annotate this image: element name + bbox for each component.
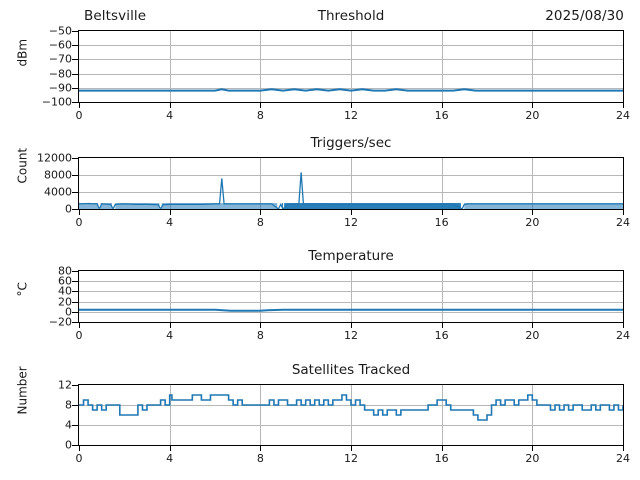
x-axis-tick-label: 20 bbox=[525, 329, 539, 342]
x-axis-tick-mark bbox=[79, 103, 80, 108]
plot-area-satellites bbox=[78, 384, 624, 446]
y-axis-tick-mark bbox=[72, 385, 78, 386]
y-axis-tick-label: 0 bbox=[0, 439, 76, 452]
plot-area-temperature bbox=[78, 270, 624, 323]
y-axis-label: Number bbox=[16, 414, 30, 415]
x-axis-tick-label: 4 bbox=[166, 216, 173, 229]
y-axis-tick-label: 4000 bbox=[0, 186, 76, 199]
y-axis-tick-mark bbox=[72, 271, 78, 272]
x-axis-tick-label: 12 bbox=[344, 109, 358, 122]
y-axis-tick-label: 12000 bbox=[0, 152, 76, 165]
y-axis-tick-label: −100 bbox=[0, 96, 76, 109]
x-axis-tick-label: 0 bbox=[76, 452, 83, 465]
y-axis-tick-label: 12 bbox=[0, 379, 76, 392]
y-axis-tick-mark bbox=[72, 59, 78, 60]
x-axis-tick-mark bbox=[532, 323, 533, 328]
data-trace bbox=[79, 271, 623, 322]
y-axis-tick-label: −80 bbox=[0, 67, 76, 80]
x-axis-tick-mark bbox=[623, 210, 624, 215]
panel-title-satellites: Satellites Tracked bbox=[78, 362, 624, 378]
x-axis-tick-label: 12 bbox=[344, 216, 358, 229]
x-axis-tick-label: 0 bbox=[76, 329, 83, 342]
y-axis-tick-mark bbox=[72, 291, 78, 292]
y-axis-tick-label: 4 bbox=[0, 419, 76, 432]
y-axis-tick-mark bbox=[72, 312, 78, 313]
x-axis-tick-mark bbox=[351, 210, 352, 215]
x-axis-tick-label: 12 bbox=[344, 329, 358, 342]
y-axis-tick-mark bbox=[72, 31, 78, 32]
plot-area-threshold bbox=[78, 30, 624, 103]
y-axis-tick-mark bbox=[72, 45, 78, 46]
x-axis-tick-label: 12 bbox=[344, 452, 358, 465]
y-axis-label: °C bbox=[16, 295, 30, 296]
x-axis-tick-mark bbox=[532, 103, 533, 108]
x-axis-tick-label: 0 bbox=[76, 216, 83, 229]
x-axis-tick-mark bbox=[260, 323, 261, 328]
x-axis-tick-mark bbox=[623, 446, 624, 451]
y-axis-tick-mark bbox=[72, 158, 78, 159]
x-axis-tick-label: 8 bbox=[257, 329, 264, 342]
data-trace bbox=[79, 385, 623, 445]
x-axis-tick-label: 16 bbox=[435, 452, 449, 465]
x-axis-tick-mark bbox=[442, 446, 443, 451]
x-axis-tick-mark bbox=[260, 446, 261, 451]
x-axis-tick-mark bbox=[170, 210, 171, 215]
y-axis-tick-label: −70 bbox=[0, 53, 76, 66]
x-axis-tick-label: 16 bbox=[435, 109, 449, 122]
x-axis-tick-label: 8 bbox=[257, 109, 264, 122]
x-axis-tick-label: 16 bbox=[435, 329, 449, 342]
x-axis-tick-label: 4 bbox=[166, 329, 173, 342]
x-axis-tick-mark bbox=[442, 323, 443, 328]
y-axis-tick-mark bbox=[72, 88, 78, 89]
x-axis-tick-mark bbox=[170, 103, 171, 108]
plot-area-triggers bbox=[78, 157, 624, 210]
x-axis-tick-mark bbox=[170, 446, 171, 451]
x-axis-tick-label: 8 bbox=[257, 452, 264, 465]
panel-title-triggers: Triggers/sec bbox=[78, 135, 624, 151]
y-axis-tick-mark bbox=[72, 445, 78, 446]
y-axis-tick-label: −90 bbox=[0, 81, 76, 94]
x-axis-tick-label: 24 bbox=[616, 329, 630, 342]
y-axis-tick-label: −50 bbox=[0, 25, 76, 38]
x-axis-tick-mark bbox=[623, 323, 624, 328]
y-axis-tick-label: −60 bbox=[0, 39, 76, 52]
y-axis-tick-mark bbox=[72, 281, 78, 282]
x-axis-tick-mark bbox=[442, 210, 443, 215]
x-axis-tick-mark bbox=[532, 446, 533, 451]
x-axis-tick-label: 20 bbox=[525, 109, 539, 122]
y-axis-label: dBm bbox=[16, 65, 30, 66]
y-axis-tick-mark bbox=[72, 175, 78, 176]
x-axis-tick-label: 16 bbox=[435, 216, 449, 229]
y-axis-label: Count bbox=[16, 182, 30, 183]
x-axis-tick-label: 8 bbox=[257, 216, 264, 229]
x-axis-tick-label: 4 bbox=[166, 109, 173, 122]
panel-title-temperature: Temperature bbox=[78, 248, 624, 264]
radio-monitoring-figure: Beltsville 2025/08/30 Threshold −100−90−… bbox=[0, 0, 640, 480]
x-axis-tick-label: 0 bbox=[76, 109, 83, 122]
y-axis-tick-mark bbox=[72, 192, 78, 193]
x-axis-tick-mark bbox=[260, 210, 261, 215]
y-axis-tick-mark bbox=[72, 425, 78, 426]
x-axis-tick-label: 4 bbox=[166, 452, 173, 465]
y-axis-tick-mark bbox=[72, 322, 78, 323]
y-axis-tick-label: 80 bbox=[0, 265, 76, 278]
y-axis-tick-label: 8000 bbox=[0, 169, 76, 182]
x-axis-tick-mark bbox=[260, 103, 261, 108]
x-axis-tick-mark bbox=[170, 323, 171, 328]
x-axis-tick-mark bbox=[442, 103, 443, 108]
panel-title-threshold: Threshold bbox=[78, 8, 624, 24]
y-axis-tick-mark bbox=[72, 405, 78, 406]
x-axis-tick-label: 24 bbox=[616, 452, 630, 465]
data-trace bbox=[79, 31, 623, 102]
x-axis-tick-mark bbox=[79, 210, 80, 215]
x-axis-tick-label: 24 bbox=[616, 109, 630, 122]
y-axis-tick-mark bbox=[72, 102, 78, 103]
x-axis-tick-mark bbox=[623, 103, 624, 108]
x-axis-tick-label: 24 bbox=[616, 216, 630, 229]
data-trace bbox=[79, 158, 623, 209]
x-axis-tick-mark bbox=[79, 323, 80, 328]
y-axis-tick-mark bbox=[72, 302, 78, 303]
x-axis-tick-mark bbox=[351, 103, 352, 108]
x-axis-tick-mark bbox=[79, 446, 80, 451]
x-axis-tick-mark bbox=[351, 446, 352, 451]
x-axis-tick-mark bbox=[532, 210, 533, 215]
x-axis-tick-mark bbox=[351, 323, 352, 328]
x-axis-tick-label: 20 bbox=[525, 452, 539, 465]
y-axis-tick-mark bbox=[72, 209, 78, 210]
y-axis-tick-label: 0 bbox=[0, 203, 76, 216]
y-axis-tick-label: 8 bbox=[0, 399, 76, 412]
y-axis-tick-mark bbox=[72, 74, 78, 75]
x-axis-tick-label: 20 bbox=[525, 216, 539, 229]
